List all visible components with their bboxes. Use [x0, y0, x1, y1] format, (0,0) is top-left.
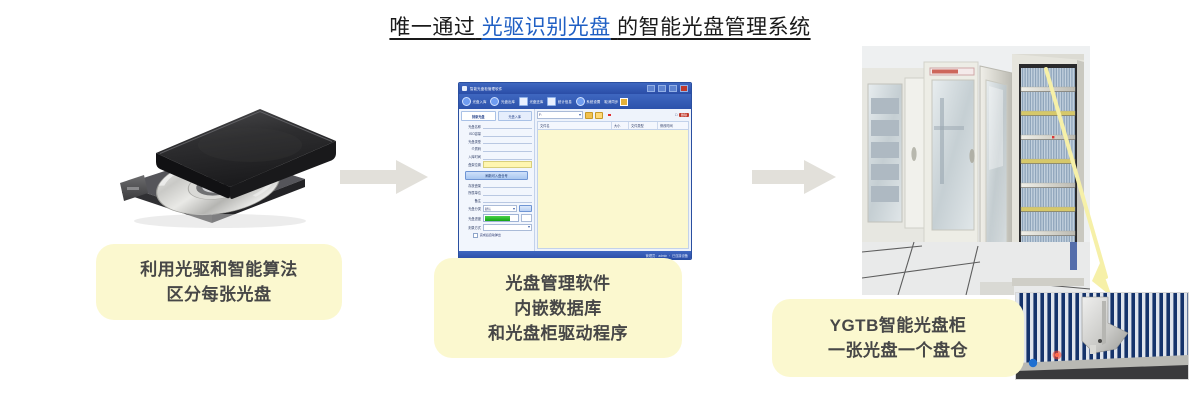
toolbar-settings[interactable]: 系统设置 — [575, 97, 601, 106]
maximize-button[interactable] — [669, 85, 677, 92]
window-body: 刻录光盘 光盘入库 光盘名称 ISO容量 光盘类型 介质码 — [459, 109, 691, 251]
toolbar-disc-in[interactable]: 光盘入库 — [461, 97, 487, 106]
slide-canvas: 唯一通过 光驱识别光盘 的智能光盘管理系统 — [0, 0, 1200, 400]
field-org-label: 所属单位 — [461, 190, 481, 195]
minimize-button[interactable] — [658, 85, 666, 92]
caption-middle-line2: 内嵌数据库 — [514, 296, 602, 321]
close-button[interactable] — [680, 85, 688, 92]
chevron-down-icon-2 — [528, 226, 530, 228]
path-toolbar[interactable]: F: ☐ 删除 — [537, 111, 689, 119]
field-disc-name-label: 光盘名称 — [461, 124, 481, 129]
toolbar-disc-in-label: 光盘入库 — [473, 99, 487, 104]
drive-select[interactable]: F: — [537, 111, 583, 119]
field-rack-label: 存放盘架 — [461, 183, 481, 188]
status-bar-right: 管理员：admin ・ 已连接设备 — [646, 253, 688, 258]
field-remark[interactable]: 备注 — [461, 197, 532, 203]
caption-right-line2: 一张光盘一个盘仓 — [828, 338, 968, 363]
path-right-tools[interactable]: ☐ 删除 — [675, 113, 689, 117]
toolbar-stats[interactable]: 统计信息 — [546, 97, 572, 106]
auto-eject-checkbox[interactable]: 完成后自动弹出 — [473, 233, 532, 238]
folder-open-icon[interactable] — [585, 112, 593, 119]
field-media-code-input[interactable] — [483, 146, 532, 152]
caption-left: 利用光驱和智能算法 区分每张光盘 — [96, 244, 342, 320]
browse-button[interactable] — [519, 205, 532, 213]
disc-category-row[interactable]: 光盘分类 默认 — [461, 205, 532, 213]
field-disc-name[interactable]: 光盘名称 — [461, 123, 532, 129]
gear-icon — [576, 97, 585, 106]
field-org[interactable]: 所属单位 — [461, 190, 532, 196]
drive-select-value: F: — [539, 113, 542, 117]
title-part-2: 的智能光盘管理系统 — [617, 16, 811, 39]
file-browser-panel: F: ☐ 删除 文件名 大小 文件类型 修改时间 — [535, 109, 691, 251]
window-titlebar: 智能光盘柜管理软件 — [459, 83, 691, 94]
caption-left-line2: 区分每张光盘 — [167, 282, 272, 307]
toolbar-disc-out[interactable]: 光盘出库 — [489, 97, 515, 106]
caption-middle-line1: 光盘管理软件 — [506, 271, 611, 296]
stats-icon — [547, 97, 556, 106]
flow-arrow-1 — [340, 160, 430, 194]
field-org-input[interactable] — [483, 190, 532, 196]
folder-up-icon[interactable] — [595, 112, 603, 119]
tab-burn-disc[interactable]: 刻录光盘 — [461, 111, 496, 121]
auto-eject-label: 完成后自动弹出 — [480, 233, 501, 237]
burn-mode-select[interactable] — [483, 224, 532, 232]
app-logo-icon — [462, 86, 467, 91]
field-disc-type[interactable]: 光盘类型 — [461, 138, 532, 144]
progress-label: 光盘进度 — [461, 216, 481, 221]
field-slot-position[interactable]: 盘架位置 — [461, 161, 532, 168]
page-title: 唯一通过 光驱识别光盘 的智能光盘管理系统 — [0, 14, 1200, 42]
field-disc-type-input[interactable] — [483, 138, 532, 144]
burn-mode-row[interactable]: 刻录方式 — [461, 224, 532, 232]
field-media-code-label: 介质码 — [461, 146, 481, 151]
disc-category-select[interactable]: 默认 — [483, 205, 517, 213]
file-list-header: 文件名 大小 文件类型 修改时间 — [537, 121, 689, 129]
main-toolbar[interactable]: 光盘入库 光盘出库 光盘还库 统计信息 系统设置 取消同步 — [459, 94, 691, 109]
field-rack[interactable]: 存放盘架 — [461, 182, 532, 188]
field-remark-input[interactable] — [483, 197, 532, 203]
col-type[interactable]: 文件类型 — [629, 122, 658, 129]
toolbar-disc-return[interactable]: 光盘还库 — [518, 97, 544, 106]
disc-category-value: 默认 — [485, 207, 491, 211]
cabinet-slot-inset — [1015, 292, 1189, 380]
disc-return-icon — [519, 97, 528, 106]
flow-arrow-2 — [752, 160, 838, 194]
checkbox-box[interactable] — [473, 233, 478, 238]
stop-icon[interactable] — [608, 114, 611, 117]
software-window[interactable]: 智能光盘柜管理软件 光盘入库 光盘出库 光盘还库 — [458, 82, 692, 260]
col-size[interactable]: 大小 — [612, 122, 629, 129]
form-panel: 刻录光盘 光盘入库 光盘名称 ISO容量 光盘类型 介质码 — [459, 109, 535, 251]
chevron-down-icon — [513, 208, 515, 210]
chevron-down-icon-3 — [579, 114, 581, 116]
caption-middle-line3: 和光盘柜驱动程序 — [488, 321, 628, 346]
toolbar-sync[interactable]: 取消同步 — [603, 98, 628, 106]
toolbar-stats-label: 统计信息 — [558, 99, 572, 104]
field-slot-position-label: 盘架位置 — [461, 162, 481, 167]
field-disc-type-label: 光盘类型 — [461, 139, 481, 144]
help-button[interactable] — [647, 85, 655, 92]
field-rack-input[interactable] — [483, 182, 532, 188]
window-title: 智能光盘柜管理软件 — [470, 86, 644, 91]
field-in-time[interactable]: 入库时间 — [461, 154, 532, 160]
file-list-body[interactable] — [537, 129, 689, 249]
toolbar-settings-label: 系统设置 — [586, 99, 600, 104]
window-controls[interactable] — [647, 85, 688, 92]
field-remark-label: 备注 — [461, 198, 481, 203]
title-highlight: 光驱识别光盘 — [482, 16, 611, 39]
cabinet-photo — [862, 46, 1090, 295]
refresh-slots-button[interactable]: 刷新可入盘仓号 — [465, 171, 528, 180]
col-filename[interactable]: 文件名 — [538, 122, 612, 129]
caption-left-line1: 利用光驱和智能算法 — [140, 257, 298, 282]
field-slot-position-input[interactable] — [483, 161, 532, 168]
toolbar-sync-label: 取消同步 — [604, 99, 618, 104]
delete-button[interactable]: 删除 — [679, 113, 689, 117]
burn-mode-label: 刻录方式 — [461, 225, 481, 230]
disc-category-label: 光盘分类 — [461, 206, 481, 211]
progress-bar — [483, 214, 519, 222]
field-iso-size-label: ISO容量 — [461, 131, 481, 136]
toolbar-disc-return-label: 光盘还库 — [529, 99, 543, 104]
toolbar-disc-out-label: 光盘出库 — [501, 99, 515, 104]
dvd-drive-photo — [100, 95, 340, 230]
field-media-code[interactable]: 介质码 — [461, 146, 532, 152]
field-iso-size-input[interactable] — [483, 131, 532, 137]
disc-in-icon — [462, 97, 471, 106]
caption-right: YGTB智能光盘柜 一张光盘一个盘仓 — [772, 299, 1024, 377]
field-iso-size[interactable]: ISO容量 — [461, 131, 532, 137]
title-part-1: 唯一通过 — [389, 16, 475, 39]
disc-out-icon — [490, 97, 499, 106]
panel-tabs[interactable]: 刻录光盘 光盘入库 — [461, 111, 532, 121]
col-mtime[interactable]: 修改时间 — [658, 122, 688, 129]
field-disc-name-input[interactable] — [483, 123, 532, 129]
progress-row: 光盘进度 — [461, 214, 532, 222]
disc-count-stepper[interactable] — [521, 214, 532, 222]
field-in-time-label: 入库时间 — [461, 154, 481, 159]
caption-right-line1: YGTB智能光盘柜 — [830, 313, 967, 338]
field-in-time-input[interactable] — [483, 154, 532, 160]
sync-icon — [620, 98, 628, 106]
caption-middle: 光盘管理软件 内嵌数据库 和光盘柜驱动程序 — [434, 258, 682, 358]
tab-disc-in[interactable]: 光盘入库 — [498, 111, 533, 121]
